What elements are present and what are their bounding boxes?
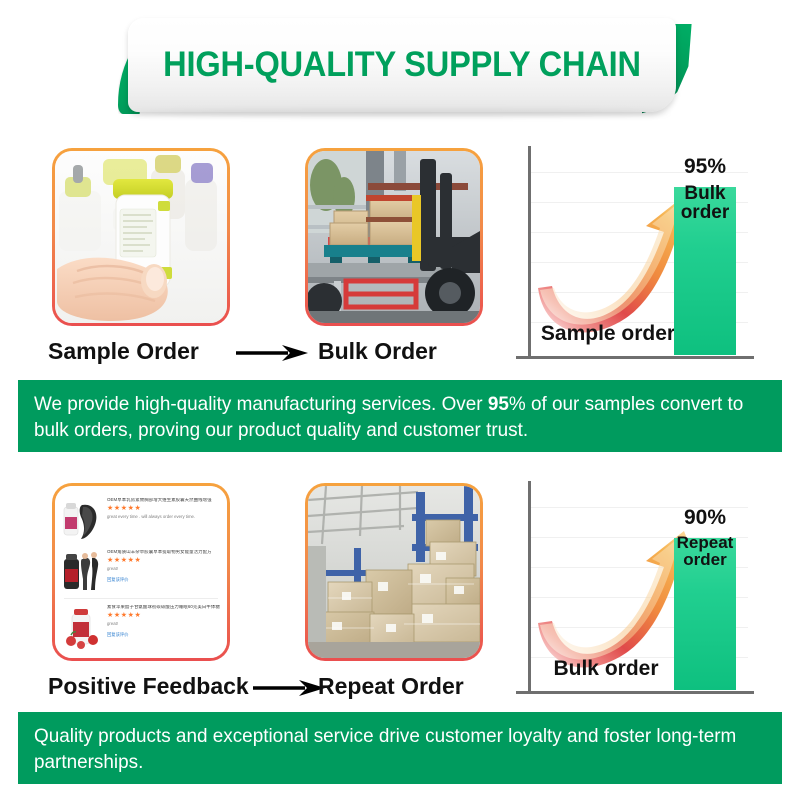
band-1-text: We provide high-quality manufacturing se… [34,391,744,444]
review-reply-link[interactable]: 回复该评价 [107,577,220,582]
sample-order-photo [55,151,227,323]
highlight-band-2: Quality products and exceptional service… [18,712,782,784]
chart-x-axis [516,356,754,359]
supply-chain-infographic: HIGH-QUALITY SUPPLY CHAIN [0,0,800,800]
review-text: great! [107,621,220,626]
header-banner: HIGH-QUALITY SUPPLY CHAIN [0,6,800,116]
star-rating-icon: ★★★★★ [107,504,220,513]
sample-order-photo-card [52,148,230,326]
review-reply-link[interactable]: 回复该评价 [107,632,220,637]
divider [64,598,218,599]
positive-feedback-label: Positive Feedback [48,669,249,703]
review-text: great every time . will always order eve… [107,514,220,519]
product-image-1 [62,497,102,542]
row-sample-to-bulk: Sample Order Bulk Order [0,140,800,370]
chart-plot-area: Sample order 95% Bulk order [516,146,764,366]
highlight-band-1: We provide high-quality manufacturing se… [18,380,782,452]
review-product-thumbnail [62,497,102,542]
forklift-loading-illustration [308,151,480,323]
page-title: HIGH-QUALITY SUPPLY CHAIN [147,18,657,112]
star-rating-icon: ★★★★★ [107,611,220,620]
review-title: OEM角质山羊杂草胶囊草本提取物男女能量活力配方 [107,550,220,555]
sample-order-label: Sample Order [48,334,199,368]
product-image-2 [62,549,102,594]
arrow-right-icon [253,680,325,696]
review-product-thumbnail [62,604,102,649]
chart-value-label: 90% [668,506,742,530]
band-2-text: Quality products and exceptional service… [34,723,744,776]
review-body: OEM角质山羊杂草胶囊草本提取物男女能量活力配方 ★★★★★ great! 回复… [107,549,220,594]
review-product-thumbnail [62,549,102,594]
bulk-order-label: Bulk Order [318,334,437,368]
repeat-order-photo [308,486,480,658]
bulk-order-photo-card [305,148,483,326]
chart-baseline-label: Sample order [538,323,678,344]
chart-y-axis [528,146,531,358]
chart-y-axis [528,481,531,693]
review-body: 素食苹果醋子甘氨酸球初碳碳酸压力睡眠60克美白牛体糖食 ★★★★★ great!… [107,604,220,649]
review-title: OEM草本乳房紧致胸部增大维生素胶囊天然曲线增强 [107,498,220,503]
repeat-order-label: Repeat Order [318,669,464,703]
warehouse-stacked-cartons-illustration [308,486,480,658]
band-1-highlight: 95 [488,393,509,415]
list-item: OEM草本乳房紧致胸部增大维生素胶囊天然曲线增强 ★★★★★ great eve… [60,493,222,545]
product-image-3 [62,604,102,649]
bulk-order-photo [308,151,480,323]
supplement-bottle-illustration [55,151,227,323]
chart-plot-area: Bulk order 90% Repeat order [516,481,764,701]
bulk-to-repeat-chart: Bulk order 90% Repeat order [516,481,764,701]
chart-x-axis [516,691,754,694]
list-item: 素食苹果醋子甘氨酸球初碳碳酸压力睡眠60克美白牛体糖食 ★★★★★ great!… [60,600,222,652]
sample-to-bulk-chart: Sample order 95% Bulk order [516,146,764,366]
positive-feedback-screenshot: OEM草本乳房紧致胸部增大维生素胶囊天然曲线增强 ★★★★★ great eve… [55,486,227,658]
repeat-order-photo-card [305,483,483,661]
chart-baseline-label: Bulk order [546,658,666,679]
star-rating-icon: ★★★★★ [107,556,220,565]
review-list: OEM草本乳房紧致胸部增大维生素胶囊天然曲线增强 ★★★★★ great eve… [55,486,227,658]
band-1-text-before: We provide high-quality manufacturing se… [34,393,488,415]
row-feedback-to-repeat: OEM草本乳房紧致胸部增大维生素胶囊天然曲线增强 ★★★★★ great eve… [0,475,800,705]
review-body: OEM草本乳房紧致胸部增大维生素胶囊天然曲线增强 ★★★★★ great eve… [107,497,220,542]
chart-bar-label: Repeat order [674,534,736,569]
positive-feedback-photo-card: OEM草本乳房紧致胸部增大维生素胶囊天然曲线增强 ★★★★★ great eve… [52,483,230,661]
chart-value-label: 95% [668,155,742,179]
list-item: OEM角质山羊杂草胶囊草本提取物男女能量活力配方 ★★★★★ great! 回复… [60,545,222,597]
review-title: 素食苹果醋子甘氨酸球初碳碳酸压力睡眠60克美白牛体糖食 [107,605,220,610]
chart-bar-label: Bulk order [674,184,736,223]
review-text: great! [107,566,220,571]
band-2-text-before: Quality products and exceptional service… [34,725,736,773]
arrow-right-icon [236,345,308,361]
